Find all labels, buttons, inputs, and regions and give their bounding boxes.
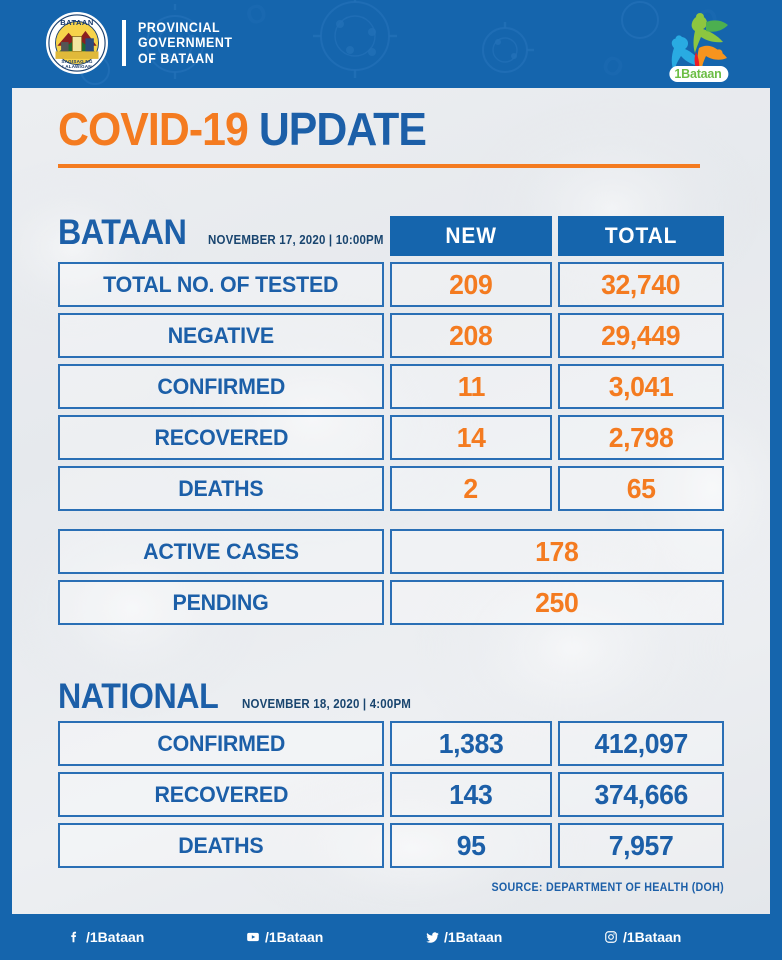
row-new-cell: 208 <box>390 313 552 358</box>
row-new-cell: 143 <box>390 772 552 817</box>
row-total-cell: 2,798 <box>558 415 724 460</box>
instagram-icon <box>603 929 619 945</box>
svg-text:O: O <box>242 0 271 32</box>
title-update: UPDATE <box>259 103 426 155</box>
table-row: TOTAL NO. OF TESTED 209 32,740 <box>58 262 724 307</box>
row-new-cell: 14 <box>390 415 552 460</box>
header-spacer <box>58 216 384 256</box>
bataan-table: NEW TOTAL TOTAL NO. OF TESTED 209 32,740… <box>58 216 724 631</box>
content-panel: COVID-19 UPDATE BATAAN NOVEMBER 17, 2020… <box>12 88 770 914</box>
row-total-cell: 374,666 <box>558 772 724 817</box>
row-label-cell: CONFIRMED <box>58 364 384 409</box>
brand-lockup: BATAAN SAGISAG NG LALAWIGAN PROVINCIAL G… <box>46 12 241 74</box>
table-row: RECOVERED 14 2,798 <box>58 415 724 460</box>
row-total-cell: 7,957 <box>558 823 724 868</box>
instagram-link[interactable]: /1Bataan <box>603 929 681 945</box>
twitter-link[interactable]: /1Bataan <box>424 929 502 945</box>
row-label-cell: NEGATIVE <box>58 313 384 358</box>
row-label-cell: CONFIRMED <box>58 721 384 766</box>
title-covid19: COVID-19 <box>58 103 248 155</box>
row-total-cell: 65 <box>558 466 724 511</box>
row-new-cell: 1,383 <box>390 721 552 766</box>
table-row: NEGATIVE 208 29,449 <box>58 313 724 358</box>
seal-top-label: BATAAN <box>48 18 106 27</box>
column-header-new: NEW <box>390 216 552 256</box>
org-line-3: OF BATAAN <box>138 51 233 67</box>
youtube-link[interactable]: /1Bataan <box>245 929 323 945</box>
facebook-icon <box>66 929 82 945</box>
facebook-handle: /1Bataan <box>86 929 144 945</box>
table-group-gap <box>58 517 724 529</box>
row-total-cell: 32,740 <box>558 262 724 307</box>
table-row: DEATHS 2 65 <box>58 466 724 511</box>
summary-value-cell: 178 <box>390 529 724 574</box>
svg-text:O: O <box>597 48 628 84</box>
row-label-cell: DEATHS <box>58 823 384 868</box>
summary-label-cell: PENDING <box>58 580 384 625</box>
page-title-block: COVID-19 UPDATE <box>58 102 700 168</box>
org-name: PROVINCIAL GOVERNMENT OF BATAAN <box>138 20 233 67</box>
youtube-handle: /1Bataan <box>265 929 323 945</box>
row-new-cell: 2 <box>390 466 552 511</box>
table-row: CONFIRMED 1,383 412,097 <box>58 721 724 766</box>
table-row: RECOVERED 143 374,666 <box>58 772 724 817</box>
title-underline <box>58 164 700 168</box>
row-total-cell: 412,097 <box>558 721 724 766</box>
national-table: CONFIRMED 1,383 412,097 RECOVERED 143 37… <box>58 721 724 874</box>
brand-divider <box>122 20 126 66</box>
source-note: SOURCE: DEPARTMENT OF HEALTH (DOH) <box>492 882 724 894</box>
row-new-cell: 11 <box>390 364 552 409</box>
bataan-table-header-row: NEW TOTAL <box>58 216 724 256</box>
row-total-cell: 29,449 <box>558 313 724 358</box>
youtube-icon <box>245 929 261 945</box>
national-section-header: NATIONAL NOVEMBER 18, 2020 | 4:00PM <box>58 680 426 714</box>
summary-row: PENDING 250 <box>58 580 724 625</box>
summary-row: ACTIVE CASES 178 <box>58 529 724 574</box>
row-label-cell: DEATHS <box>58 466 384 511</box>
summary-label-cell: ACTIVE CASES <box>58 529 384 574</box>
org-line-1: PROVINCIAL <box>138 20 233 36</box>
row-new-cell: 209 <box>390 262 552 307</box>
row-label-cell: RECOVERED <box>58 772 384 817</box>
row-new-cell: 95 <box>390 823 552 868</box>
row-label-cell: RECOVERED <box>58 415 384 460</box>
national-section-timestamp: NOVEMBER 18, 2020 | 4:00PM <box>242 697 411 714</box>
summary-value-cell: 250 <box>390 580 724 625</box>
facebook-link[interactable]: /1Bataan <box>66 929 144 945</box>
national-section-title: NATIONAL <box>58 680 218 714</box>
page-title: COVID-19 UPDATE <box>58 102 655 156</box>
instagram-handle: /1Bataan <box>623 929 681 945</box>
one-bataan-logo: 1Bataan <box>656 8 742 82</box>
seal-bottom-label: SAGISAG NG LALAWIGAN <box>48 59 106 69</box>
one-bataan-wordmark: 1Bataan <box>669 66 728 82</box>
bataan-provincial-seal: BATAAN SAGISAG NG LALAWIGAN <box>46 12 108 74</box>
social-footer: /1Bataan /1Bataan /1Bataan /1Bataan <box>0 914 782 960</box>
table-row: CONFIRMED 11 3,041 <box>58 364 724 409</box>
twitter-icon <box>424 929 440 945</box>
page-header: O O O BATAAN SAGISAG NG LALAWIGAN PROVIN… <box>0 0 782 88</box>
table-row: DEATHS 95 7,957 <box>58 823 724 868</box>
column-header-total: TOTAL <box>558 216 724 256</box>
row-total-cell: 3,041 <box>558 364 724 409</box>
twitter-handle: /1Bataan <box>444 929 502 945</box>
org-line-2: GOVERNMENT <box>138 35 233 51</box>
row-label-cell: TOTAL NO. OF TESTED <box>58 262 384 307</box>
